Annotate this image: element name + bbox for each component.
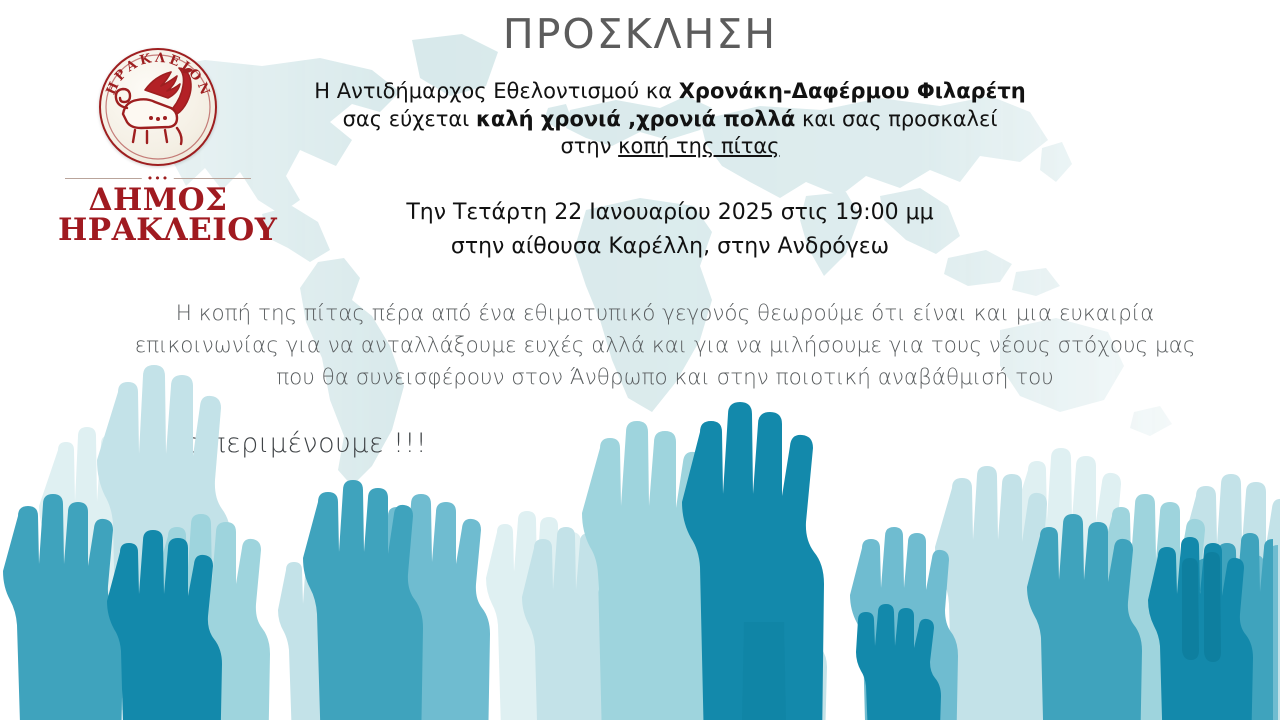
divider-dots: •••	[142, 174, 174, 183]
greeting-emphasis: καλή χρονιά ,χρονιά πολλά	[476, 107, 795, 131]
intro-line2-post: και σας προσκαλεί	[795, 107, 997, 131]
event-venue-line: στην αίθουσα Καρέλλη, στην Ανδρόγεω	[290, 230, 1050, 264]
org-name-line2: ΗΡΑΚΛΕΙΟΥ	[58, 215, 258, 245]
invitation-poster: ΗΡΑΚΛΕΙΟΝ ••• ΔΗΜΟΣ ΗΡΑΚΛΕΙΟΥ ΠΡΟΣΚΛΗΣΗ …	[0, 0, 1280, 720]
org-name-line1: ΔΗΜΟΣ	[58, 185, 258, 215]
closing-text: Σας περιμένουμε !!!	[148, 428, 427, 459]
intro-line-2: σας εύχεται καλή χρονιά ,χρονιά πολλά κα…	[290, 106, 1050, 134]
intro-line-1: Η Αντιδήμαρχος Εθελοντισμού κα Χρονάκη-Δ…	[290, 78, 1050, 106]
intro-line2-pre: σας εύχεται	[343, 107, 476, 131]
municipality-logo: ΗΡΑΚΛΕΙΟΝ ••• ΔΗΜΟΣ ΗΡΑΚΛΕΙΟΥ	[58, 48, 258, 246]
body-paragraph: Η κοπή της πίτας πέρα από ένα εθιμοτυπικ…	[130, 298, 1200, 393]
intro-paragraph: Η Αντιδήμαρχος Εθελοντισμού κα Χρονάκη-Δ…	[290, 78, 1050, 161]
municipality-seal-icon: ΗΡΑΚΛΕΙΟΝ	[99, 48, 217, 166]
intro-line-3: στην κοπή της πίτας	[290, 133, 1050, 161]
intro-line3-pre: στην	[560, 134, 618, 158]
intro-line1-pre: Η Αντιδήμαρχος Εθελοντισμού κα	[314, 79, 678, 103]
deputy-mayor-name: Χρονάκη-Δαφέρμου Φιλαρέτη	[679, 79, 1026, 103]
event-details: Την Τετάρτη 22 Ιανουαρίου 2025 στις 19:0…	[290, 196, 1050, 264]
logo-divider: •••	[65, 174, 251, 183]
event-name-underlined: κοπή της πίτας	[618, 134, 779, 158]
event-date-line: Την Τετάρτη 22 Ιανουαρίου 2025 στις 19:0…	[290, 196, 1050, 230]
page-title: ΠΡΟΣΚΛΗΣΗ	[0, 10, 1280, 58]
